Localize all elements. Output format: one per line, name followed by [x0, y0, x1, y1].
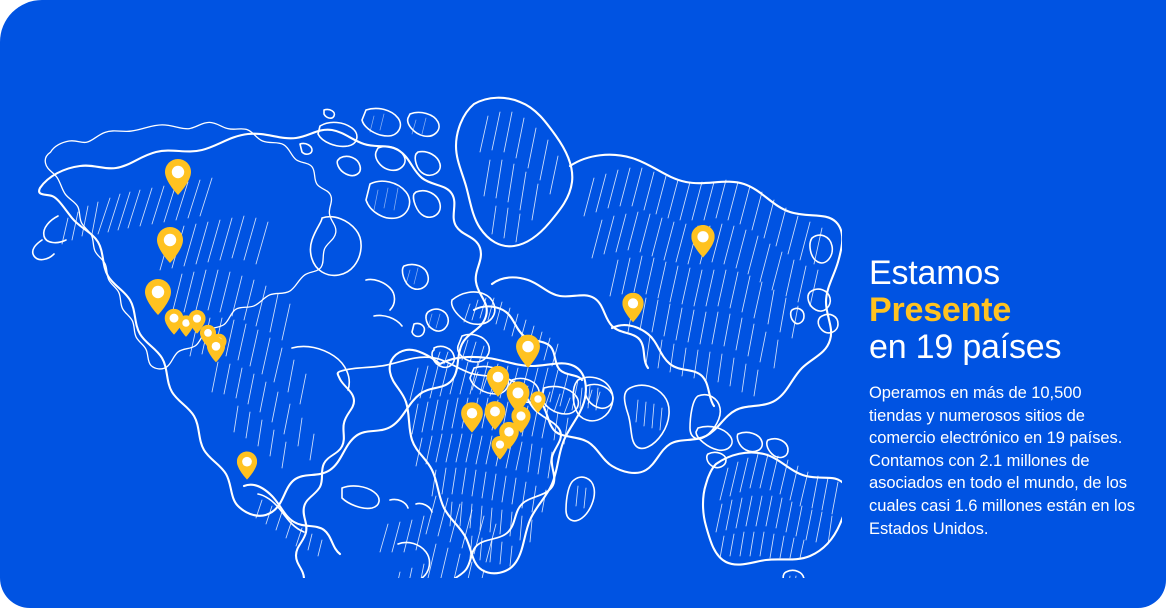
- location-pin-icon: [237, 452, 257, 480]
- british-isles-sketch: [402, 264, 448, 336]
- world-map: [0, 0, 860, 608]
- location-pin-icon: [691, 225, 714, 257]
- location-pin-icon: [530, 391, 546, 413]
- headline-line-2: Presente: [869, 292, 1137, 329]
- map-pin[interactable]: [622, 293, 643, 327]
- presence-card: Estamos Presente en 19 países Operamos e…: [0, 0, 1166, 608]
- map-pin[interactable]: [237, 452, 257, 484]
- map-pin[interactable]: [207, 337, 225, 366]
- location-pin-icon: [207, 337, 225, 362]
- map-pin[interactable]: [491, 436, 508, 463]
- location-pin-icon: [165, 159, 191, 195]
- location-pin-icon: [491, 436, 508, 460]
- map-pin[interactable]: [165, 159, 191, 200]
- map-pin[interactable]: [461, 402, 483, 436]
- location-pin-icon: [461, 402, 483, 432]
- map-pin[interactable]: [516, 335, 540, 373]
- paragraph-2: Contamos con 2.1 millones de asociados e…: [869, 450, 1137, 540]
- asia-sketch: [542, 155, 842, 473]
- location-pin-icon: [157, 227, 183, 263]
- map-pin[interactable]: [691, 225, 714, 262]
- body-copy: Operamos en más de 10,500 tiendas y nume…: [869, 382, 1137, 540]
- map-pin[interactable]: [157, 227, 183, 268]
- location-pin-icon: [622, 293, 643, 323]
- arctic-islands-sketch: [300, 108, 440, 218]
- australia-sketch: [696, 426, 842, 578]
- central-america-sketch: [244, 485, 432, 556]
- headline-line-3: en 19 países: [869, 329, 1137, 366]
- paragraph-1: Operamos en más de 10,500 tiendas y nume…: [869, 382, 1137, 450]
- alaska-sketch: [33, 216, 66, 260]
- location-pin-icon: [516, 335, 540, 368]
- headline-line-1: Estamos: [869, 255, 1137, 292]
- north-america-sketch: [39, 130, 487, 516]
- map-pin[interactable]: [530, 391, 546, 416]
- greenland-sketch: [456, 98, 572, 247]
- text-panel: Estamos Presente en 19 países Operamos e…: [869, 255, 1137, 540]
- headline: Estamos Presente en 19 países: [869, 255, 1137, 366]
